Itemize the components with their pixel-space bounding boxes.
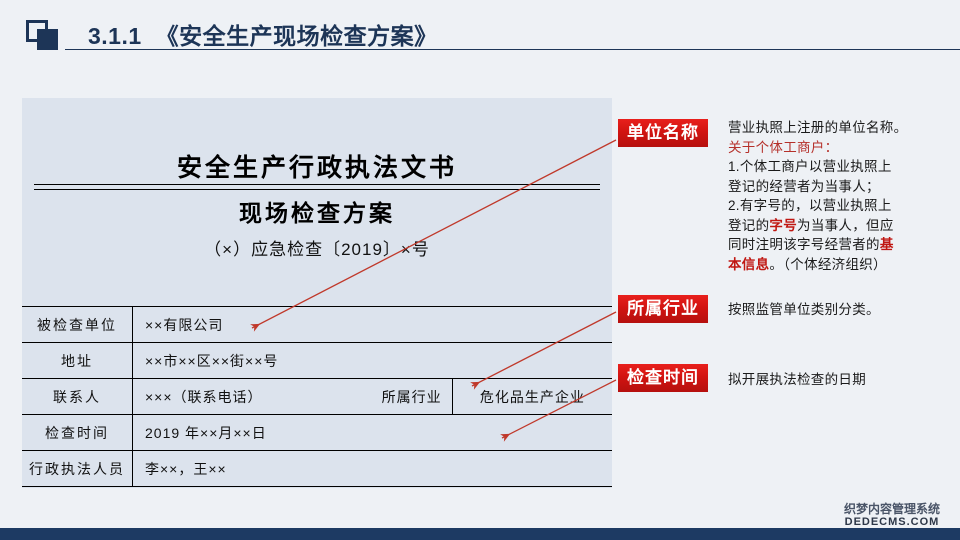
document-sub-title: 现场检查方案 <box>22 194 612 228</box>
ann-line: 同时注明该字号经营者的基 <box>728 235 953 255</box>
annotation-badge-inspect-time: 检查时间 <box>618 364 708 392</box>
row-label-address: 地址 <box>22 343 133 379</box>
inspection-info-table: 被检查单位 ××有限公司 地址 ××市××区××街××号 联系人 ×××（联系电… <box>22 306 612 487</box>
footer-bar <box>0 528 960 540</box>
annotation-text-unit-name: 营业执照上注册的单位名称。 关于个体工商户： 1.个体工商户以营业执照上 登记的… <box>728 118 953 275</box>
row-value-officers: 李××，王×× <box>133 451 613 487</box>
row-label-officers: 行政执法人员 <box>22 451 133 487</box>
annotation-badge-unit-name: 单位名称 <box>618 119 708 147</box>
ann-line: 拟开展执法检查的日期 <box>728 370 953 390</box>
square-filled-shape <box>37 29 58 50</box>
row-value-contact: ×××（联系电话） <box>133 379 293 415</box>
table-row: 检查时间 2019 年××月××日 <box>22 415 612 451</box>
ann-frag: 登记的 <box>728 218 769 233</box>
row-label-contact: 联系人 <box>22 379 133 415</box>
row-subvalue-industry: 危化品生产企业 <box>452 379 612 415</box>
table-row: 行政执法人员 李××，王×× <box>22 451 612 487</box>
row-value-unit: ××有限公司 <box>133 307 613 343</box>
section-number: 3.1.1 <box>88 23 142 49</box>
ann-frag-emphasis: 基 <box>880 237 894 252</box>
annotation-badge-industry: 所属行业 <box>618 295 708 323</box>
watermark: 织梦内容管理系统 DEDECMS.COM <box>832 503 952 529</box>
annotation-text-inspect-time: 拟开展执法检查的日期 <box>728 370 953 390</box>
ann-line: 登记的经营者为当事人； <box>728 177 953 197</box>
row-value-address: ××市××区××街××号 <box>133 343 613 379</box>
row-value-time: 2019 年××月××日 <box>133 415 613 451</box>
ann-frag-emphasis: 本信息 <box>728 257 769 272</box>
ann-line: 登记的字号为当事人，但应 <box>728 216 953 236</box>
document-main-title: 安全生产行政执法文书 <box>22 148 612 184</box>
document-preview-panel: 安全生产行政执法文书 现场检查方案 （×）应急检查〔2019〕×号 被检查单位 … <box>22 98 612 488</box>
page-title: 3.1.1《安全生产现场检查方案》 <box>88 17 438 51</box>
ann-line: 关于个体工商户： <box>728 138 953 158</box>
ann-frag: 同时注明该字号经营者的 <box>728 237 880 252</box>
table-row: 联系人 ×××（联系电话） 所属行业 危化品生产企业 <box>22 379 612 415</box>
double-square-icon <box>26 20 62 50</box>
row-label-unit: 被检查单位 <box>22 307 133 343</box>
row-sublabel-industry: 所属行业 <box>292 379 452 415</box>
annotation-text-industry: 按照监管单位类别分类。 <box>728 300 953 320</box>
ann-line: 按照监管单位类别分类。 <box>728 300 953 320</box>
document-number: （×）应急检查〔2019〕×号 <box>22 235 612 260</box>
ann-line: 营业执照上注册的单位名称。 <box>728 118 953 138</box>
ann-frag: 。（个体经济组织） <box>769 257 886 272</box>
table-row: 被检查单位 ××有限公司 <box>22 307 612 343</box>
ann-line: 1.个体工商户以营业执照上 <box>728 157 953 177</box>
ann-line: 本信息。（个体经济组织） <box>728 255 953 275</box>
section-title: 《安全生产现场检查方案》 <box>156 23 438 49</box>
ann-frag-emphasis: 字号 <box>769 218 797 233</box>
header-divider <box>65 49 960 50</box>
page-header: 3.1.1《安全生产现场检查方案》 <box>0 0 960 60</box>
row-label-time: 检查时间 <box>22 415 133 451</box>
document-double-rule <box>34 184 600 190</box>
ann-frag: 为当事人，但应 <box>797 218 894 233</box>
table-row: 地址 ××市××区××街××号 <box>22 343 612 379</box>
ann-line: 2.有字号的，以营业执照上 <box>728 196 953 216</box>
watermark-cn: 织梦内容管理系统 <box>832 503 952 516</box>
